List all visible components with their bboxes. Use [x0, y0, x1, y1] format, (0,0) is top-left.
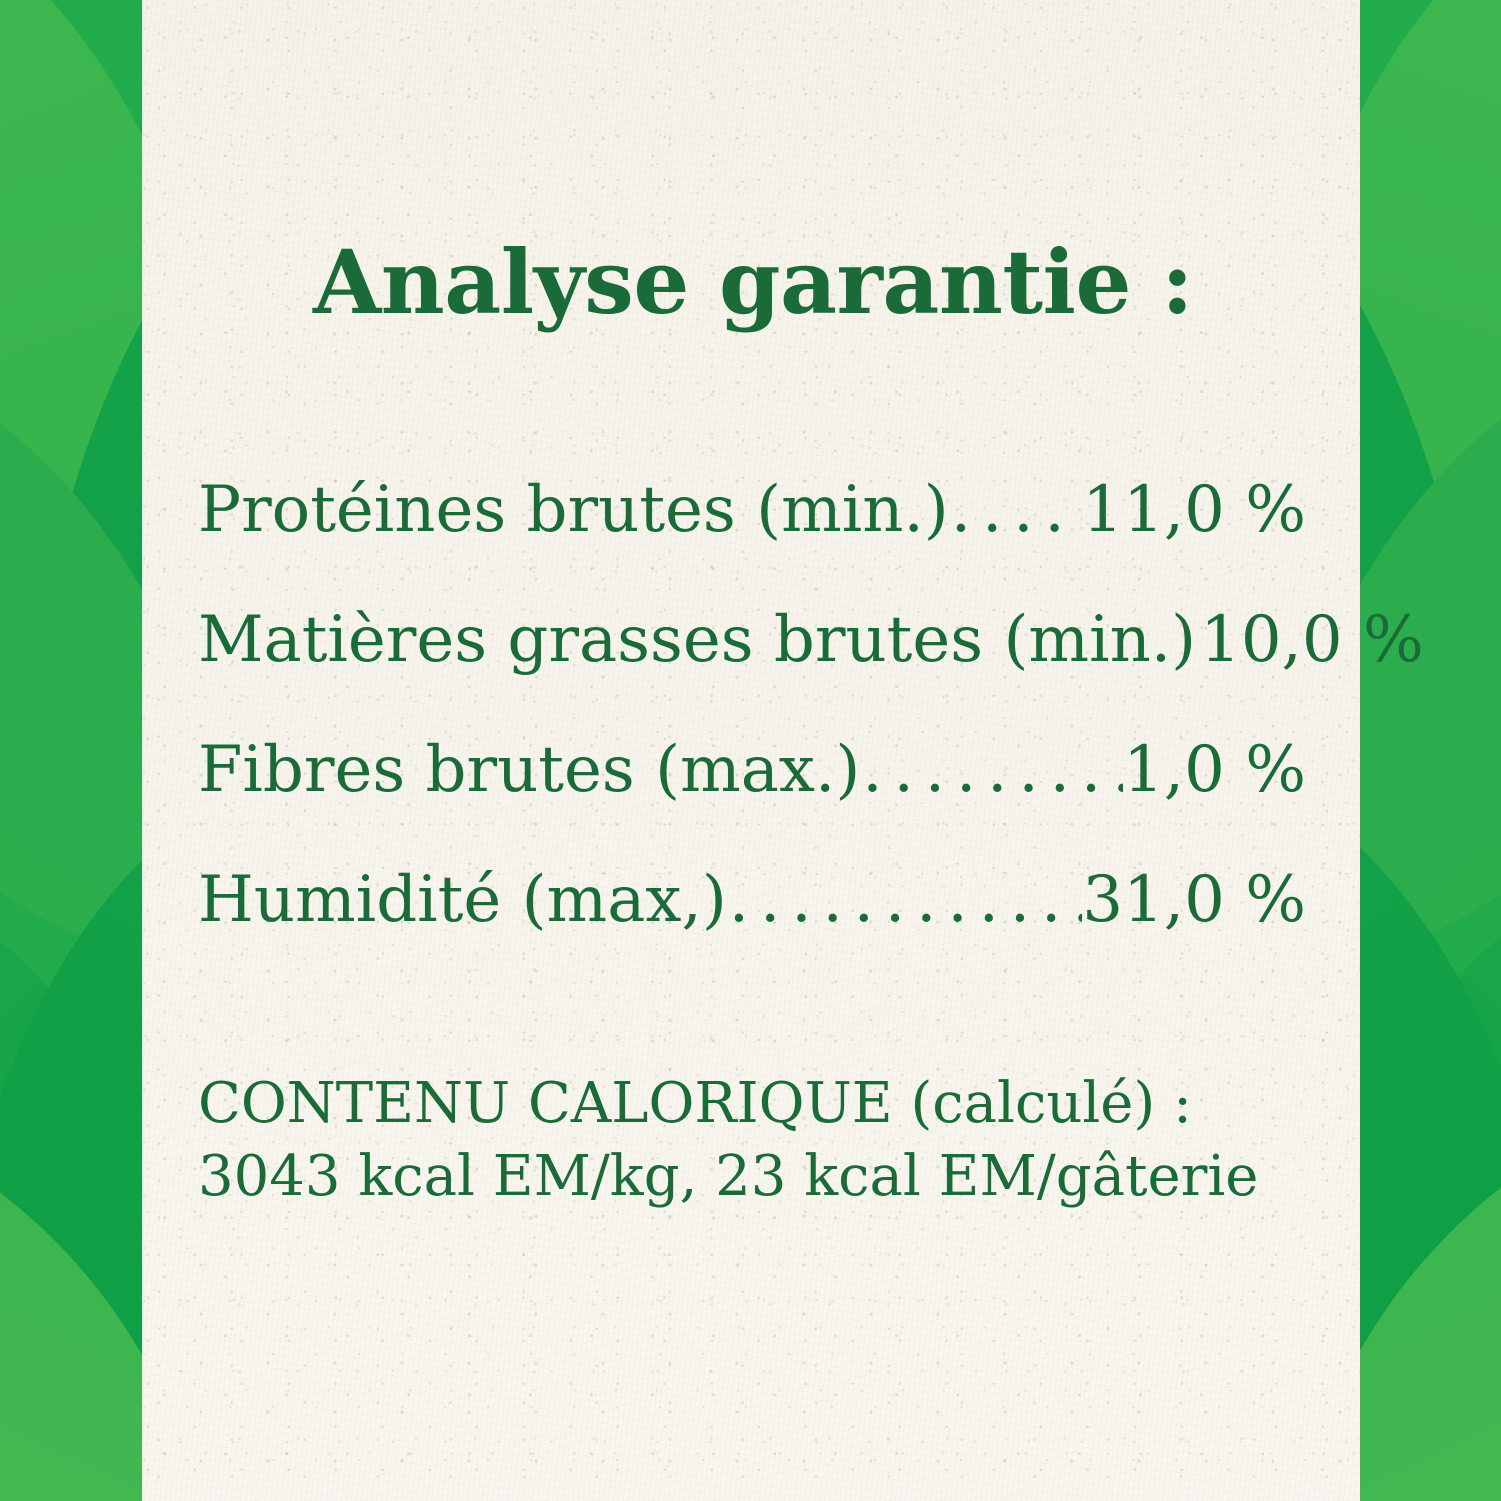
leaf-shape-icon	[20, 90, 142, 870]
table-row: Protéines brutes (min.) 11,0 %	[198, 478, 1306, 608]
leaf-shape-icon	[0, 0, 142, 580]
caloric-content-heading: CONTENU CALORIQUE (calculé) :	[198, 1068, 1258, 1141]
label-content: Analyse garantie : Protéines brutes (min…	[142, 0, 1360, 1501]
left-green-leaf-panel	[0, 0, 142, 1501]
page-title: Analyse garantie :	[198, 236, 1308, 328]
dot-leader	[727, 868, 1083, 932]
leaf-shape-icon	[1360, 870, 1501, 1310]
leaf-shape-icon	[0, 880, 142, 1310]
dot-leader	[949, 478, 1083, 542]
nutrient-value: 1,0 %	[1123, 738, 1306, 802]
table-row: Humidité (max,) 31,0 %	[198, 868, 1306, 998]
leaf-shape-icon	[1360, 750, 1501, 1450]
nutrient-name: Fibres brutes (max.)	[198, 738, 860, 802]
dot-leader	[860, 738, 1123, 802]
leaf-shape-icon	[1360, 80, 1491, 880]
nutrient-value: 11,0 %	[1082, 478, 1306, 542]
nutrient-value: 10,0 %	[1200, 608, 1424, 672]
nutrient-value: 31,0 %	[1082, 868, 1306, 932]
nutrient-name: Protéines brutes (min.)	[198, 478, 949, 542]
right-green-leaf-panel	[1360, 0, 1501, 1501]
guaranteed-analysis-label: Analyse garantie : Protéines brutes (min…	[0, 0, 1501, 1501]
leaf-shape-icon	[1360, 0, 1501, 560]
paper-background-panel: Analyse garantie : Protéines brutes (min…	[142, 0, 1360, 1501]
leaf-shape-icon	[0, 760, 142, 1450]
nutrient-name: Humidité (max,)	[198, 868, 727, 932]
nutrition-table: Protéines brutes (min.) 11,0 % Matières …	[198, 478, 1306, 998]
leaf-shape-icon	[0, 330, 142, 970]
nutrient-name: Matières grasses brutes (min.)	[198, 608, 1196, 672]
table-row: Matières grasses brutes (min.) 10,0 %	[198, 608, 1306, 738]
table-row: Fibres brutes (max.) 1,0 %	[198, 738, 1306, 868]
leaf-shape-icon	[1360, 1080, 1501, 1501]
leaf-shape-icon	[0, 1090, 142, 1501]
caloric-content-block: CONTENU CALORIQUE (calculé) : 3043 kcal …	[198, 1068, 1258, 1214]
caloric-content-values: 3043 kcal EM/kg, 23 kcal EM/gâterie	[198, 1141, 1258, 1214]
